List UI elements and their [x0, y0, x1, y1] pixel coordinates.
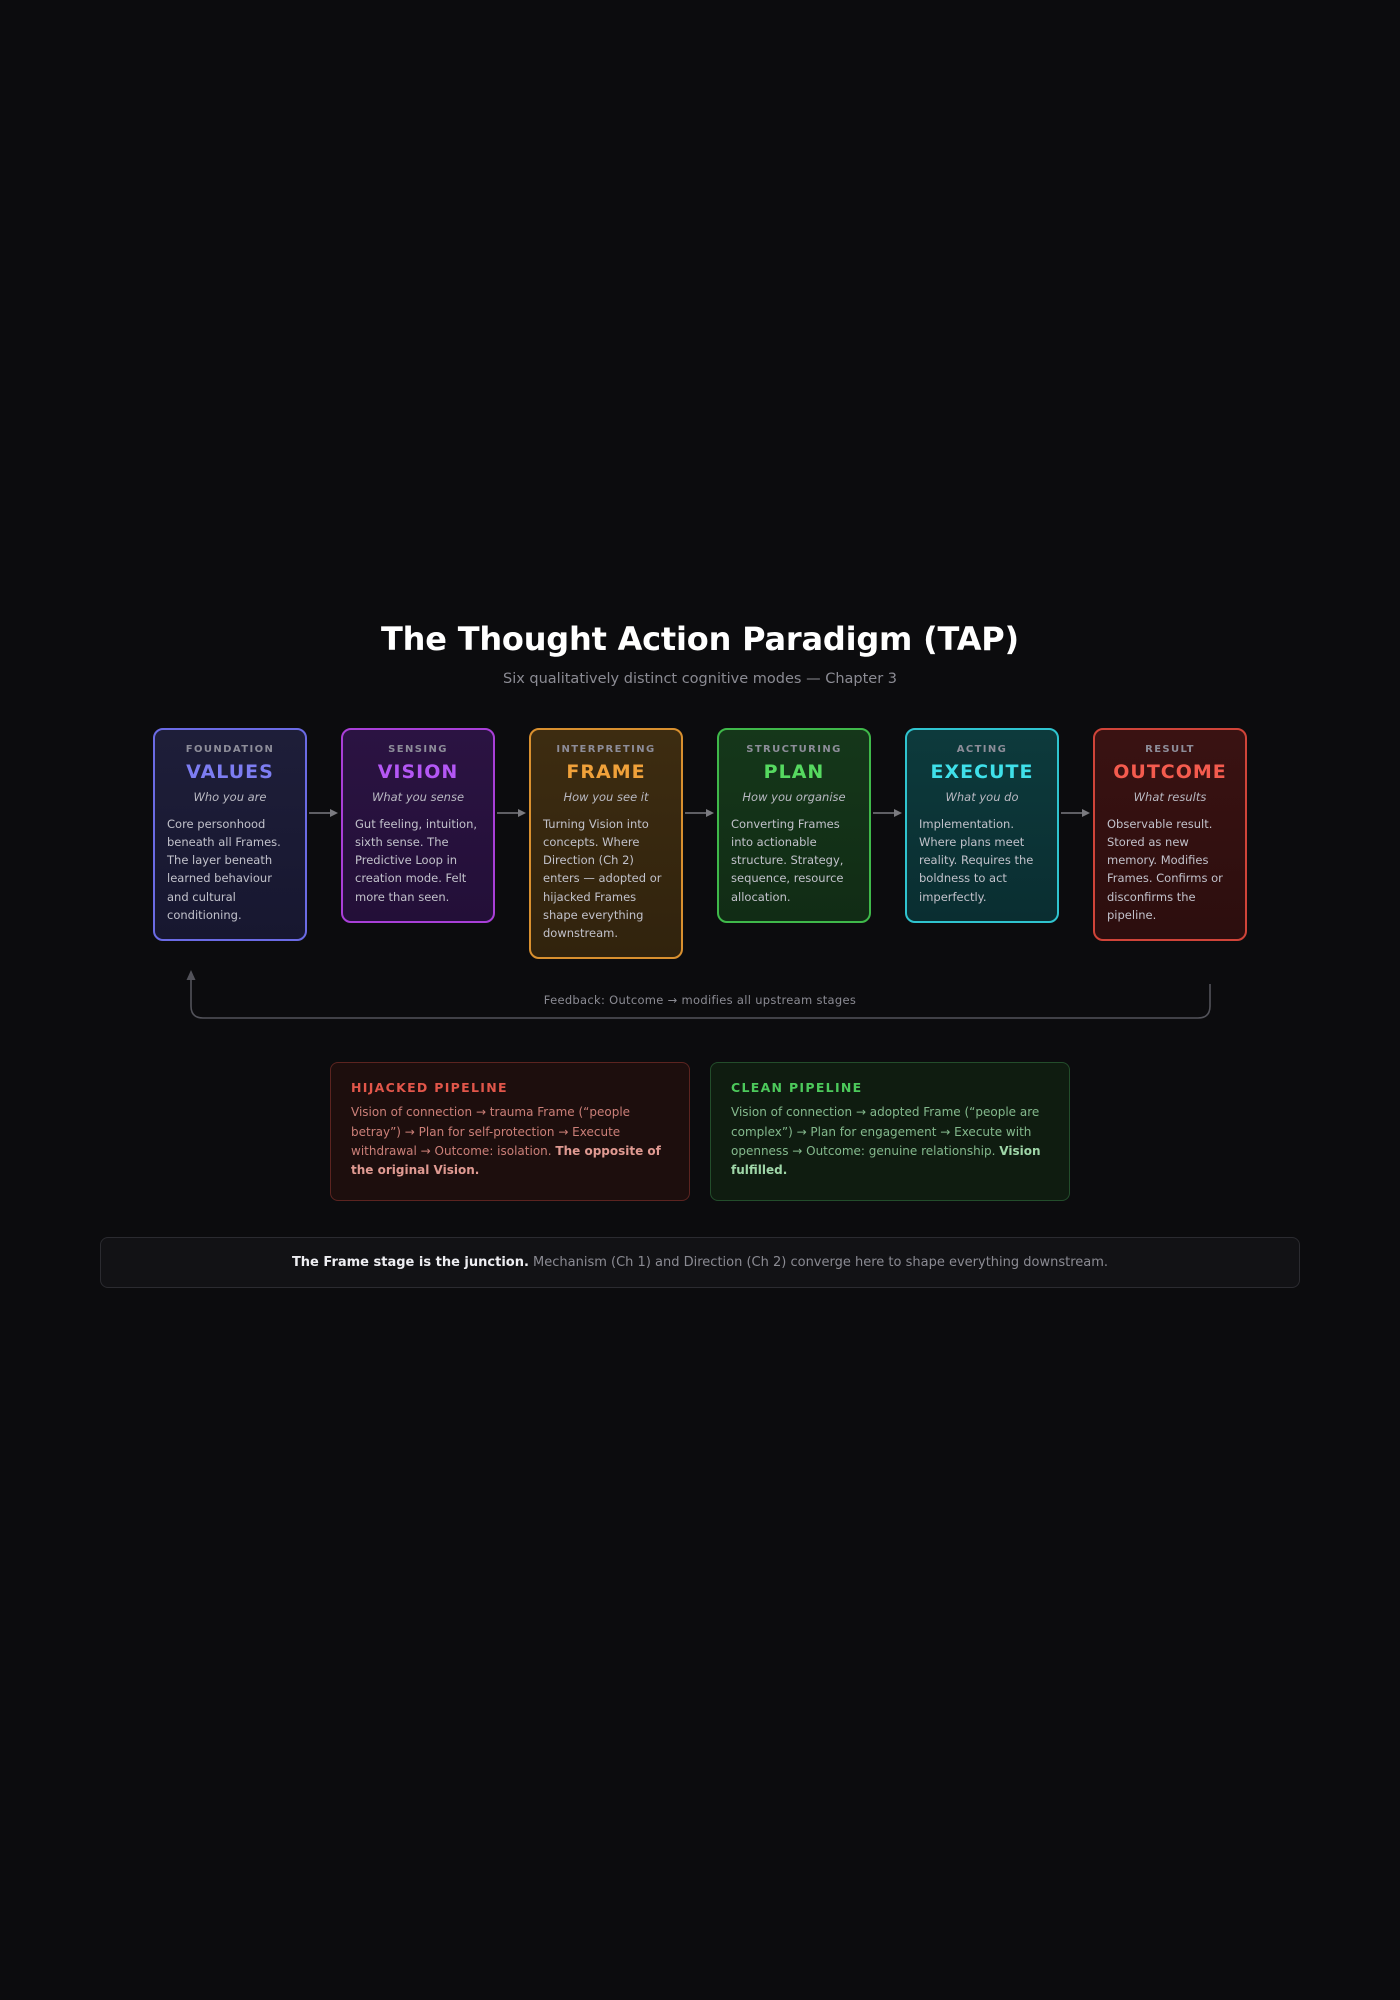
example-pipelines: HIJACKED PIPELINE Vision of connection →…	[0, 1062, 1400, 1201]
stage-subtitle: How you organise	[731, 790, 857, 804]
arrow-icon-1	[307, 728, 341, 898]
stage-card-execute[interactable]: ACTING EXECUTE What you do Implementatio…	[905, 728, 1059, 923]
stage-subtitle: What results	[1107, 790, 1233, 804]
stage-eyebrow: RESULT	[1107, 744, 1233, 755]
stage-eyebrow: FOUNDATION	[167, 744, 293, 755]
clean-pipeline-body: Vision of connection → adopted Frame (“p…	[731, 1103, 1049, 1181]
arrow-icon-3	[683, 728, 717, 898]
clean-pipeline-card[interactable]: CLEAN PIPELINE Vision of connection → ad…	[710, 1062, 1070, 1201]
stage-body: Converting Frames into actionable struct…	[731, 815, 857, 906]
stage-card-vision[interactable]: SENSING VISION What you sense Gut feelin…	[341, 728, 495, 923]
feedback-loop: Feedback: Outcome → modifies all upstrea…	[183, 968, 1218, 1028]
stage-eyebrow: ACTING	[919, 744, 1045, 755]
stage-body: Core personhood beneath all Frames. The …	[167, 815, 293, 924]
stage-card-frame[interactable]: INTERPRETING FRAME How you see it Turnin…	[529, 728, 683, 959]
arrow-icon-2	[495, 728, 529, 898]
arrow-icon-4	[871, 728, 905, 898]
hijacked-pipeline-card[interactable]: HIJACKED PIPELINE Vision of connection →…	[330, 1062, 690, 1201]
stage-subtitle: Who you are	[167, 790, 293, 804]
stage-body: Observable result. Stored as new memory.…	[1107, 815, 1233, 924]
stage-subtitle: How you see it	[543, 790, 669, 804]
junction-note-rest: Mechanism (Ch 1) and Direction (Ch 2) co…	[529, 1255, 1108, 1270]
arrow-icon-5	[1059, 728, 1093, 898]
header: The Thought Action Paradigm (TAP) Six qu…	[0, 620, 1400, 687]
stage-body: Implementation. Where plans meet reality…	[919, 815, 1045, 906]
junction-note: The Frame stage is the junction. Mechani…	[100, 1237, 1300, 1288]
stage-eyebrow: INTERPRETING	[543, 744, 669, 755]
stage-title: VISION	[355, 761, 481, 783]
stage-eyebrow: SENSING	[355, 744, 481, 755]
clean-pipeline-text: Vision of connection → adopted Frame (“p…	[731, 1105, 1039, 1158]
stage-subtitle: What you do	[919, 790, 1045, 804]
stage-title: PLAN	[731, 761, 857, 783]
page-subtitle: Six qualitatively distinct cognitive mod…	[0, 671, 1400, 687]
stage-body: Gut feeling, intuition, sixth sense. The…	[355, 815, 481, 906]
stage-card-values[interactable]: FOUNDATION VALUES Who you are Core perso…	[153, 728, 307, 941]
page-root: The Thought Action Paradigm (TAP) Six qu…	[0, 0, 1400, 2000]
diagram-stage: The Thought Action Paradigm (TAP) Six qu…	[0, 620, 1400, 1288]
feedback-loop-label: Feedback: Outcome → modifies all upstrea…	[183, 993, 1218, 1007]
clean-pipeline-heading: CLEAN PIPELINE	[731, 1080, 1049, 1095]
hijacked-pipeline-heading: HIJACKED PIPELINE	[351, 1080, 669, 1095]
pipeline-row: FOUNDATION VALUES Who you are Core perso…	[0, 728, 1400, 959]
stage-body: Turning Vision into concepts. Where Dire…	[543, 815, 669, 942]
stage-title: EXECUTE	[919, 761, 1045, 783]
stage-card-plan[interactable]: STRUCTURING PLAN How you organise Conver…	[717, 728, 871, 923]
hijacked-pipeline-body: Vision of connection → trauma Frame (“pe…	[351, 1103, 669, 1181]
stage-eyebrow: STRUCTURING	[731, 744, 857, 755]
stage-subtitle: What you sense	[355, 790, 481, 804]
stage-title: VALUES	[167, 761, 293, 783]
stage-title: FRAME	[543, 761, 669, 783]
stage-title: OUTCOME	[1107, 761, 1233, 783]
junction-note-lead: The Frame stage is the junction.	[292, 1255, 529, 1270]
page-title: The Thought Action Paradigm (TAP)	[0, 620, 1400, 658]
stage-card-outcome[interactable]: RESULT OUTCOME What results Observable r…	[1093, 728, 1247, 941]
